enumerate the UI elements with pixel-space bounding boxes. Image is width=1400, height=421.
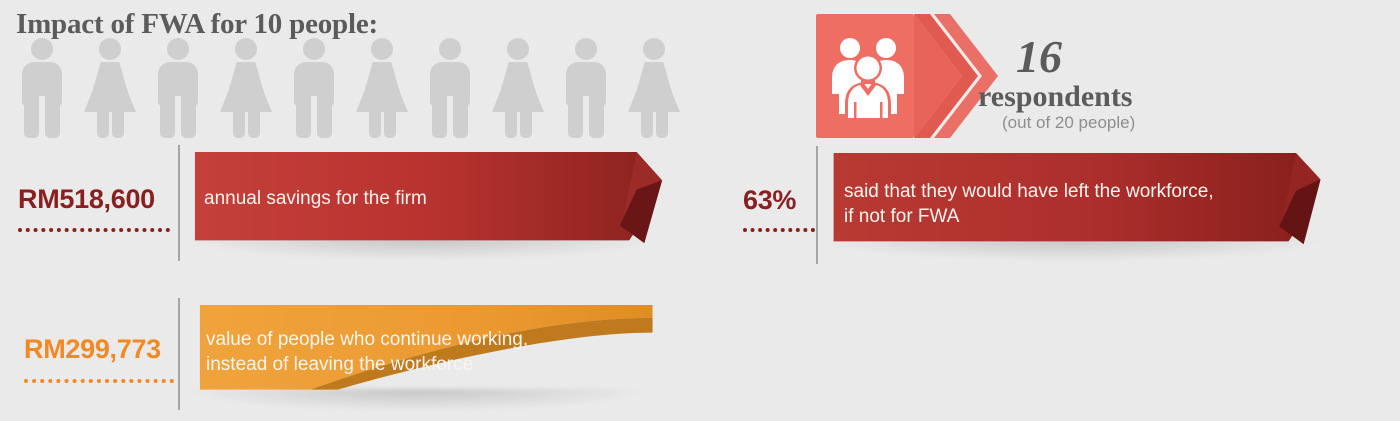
person-head xyxy=(643,38,665,60)
respondents-subtext: (out of 20 people) xyxy=(1002,113,1135,133)
person-skirt xyxy=(628,86,680,112)
person-female-icon xyxy=(490,38,546,138)
infographic-canvas: Impact of FWA for 10 people: RM518,600 xyxy=(0,0,1400,421)
person-leg-left xyxy=(505,110,517,138)
person-female-icon xyxy=(354,38,410,138)
stat-label-underline-would-have-left xyxy=(743,224,815,232)
person-female-icon xyxy=(626,38,682,138)
person-male-icon xyxy=(558,38,614,138)
person-leg-right xyxy=(384,110,396,138)
person-skirt xyxy=(492,86,544,112)
stat-block-would-have-left: 63% said that they would have left the w… xyxy=(720,158,1380,273)
person-head xyxy=(371,38,393,60)
person-leg-left xyxy=(160,98,175,138)
person-male-icon xyxy=(286,38,342,138)
stat-label-would-have-left: 63% xyxy=(743,185,796,216)
stat-label-underline-continued-working-value xyxy=(24,375,174,383)
person-head xyxy=(235,38,257,60)
person-leg-left xyxy=(233,110,245,138)
person-skirt xyxy=(220,86,272,112)
person-leg-gap xyxy=(39,96,45,140)
person-head xyxy=(99,38,121,60)
person-leg-right xyxy=(112,110,124,138)
person-leg-left xyxy=(641,110,653,138)
person-leg-left xyxy=(97,110,109,138)
respondents-word: respondents xyxy=(978,80,1132,114)
person-leg-gap xyxy=(583,96,589,140)
person-leg-right xyxy=(520,110,532,138)
stat-label-underline-annual-savings xyxy=(18,224,170,232)
person-male-icon xyxy=(422,38,478,138)
person-female-icon xyxy=(82,38,138,138)
person-leg-left xyxy=(296,98,311,138)
person-leg-right xyxy=(45,98,60,138)
person-head xyxy=(507,38,529,60)
person-leg-gap xyxy=(175,96,181,140)
respondents-badge: 16 respondents (out of 20 people) xyxy=(816,14,1216,138)
person-leg-gap xyxy=(447,96,453,140)
ribbon-would-have-left: said that they would have left the workf… xyxy=(816,153,1336,247)
stat-block-annual-savings: RM518,600 annual savings for the firm xyxy=(0,152,700,267)
person-leg-right xyxy=(589,98,604,138)
person-leg-right xyxy=(181,98,196,138)
person-leg-left xyxy=(568,98,583,138)
people-pictogram-row xyxy=(14,36,674,138)
stat-label-continued-working-value: RM299,773 xyxy=(24,334,161,365)
ribbon-text-annual-savings: annual savings for the firm xyxy=(204,186,634,211)
person-leg-left xyxy=(24,98,39,138)
group-of-people-icon xyxy=(828,34,910,118)
person-female-icon xyxy=(218,38,274,138)
person-leg-gap xyxy=(311,96,317,140)
person-leg-left xyxy=(432,98,447,138)
person-head xyxy=(439,38,461,60)
person-leg-right xyxy=(248,110,260,138)
ribbon-annual-savings: annual savings for the firm xyxy=(178,152,676,246)
person-leg-right xyxy=(317,98,332,138)
person-head xyxy=(167,38,189,60)
stat-block-continued-working-value: RM299,773 value of people who continue w… xyxy=(0,305,700,415)
person-male-icon xyxy=(14,38,70,138)
person-head xyxy=(575,38,597,60)
person-leg-right xyxy=(453,98,468,138)
respondents-number: 16 xyxy=(1016,30,1062,83)
person-head xyxy=(303,38,325,60)
stat-label-annual-savings: RM518,600 xyxy=(18,184,155,215)
person-skirt xyxy=(84,86,136,112)
person-head xyxy=(31,38,53,60)
person-skirt xyxy=(356,86,408,112)
ribbon-text-would-have-left: said that they would have left the workf… xyxy=(844,179,1294,229)
person-leg-right xyxy=(656,110,668,138)
ribbon-continued-working-value: value of people who continue working, in… xyxy=(178,305,676,397)
person-male-icon xyxy=(150,38,206,138)
person-leg-left xyxy=(369,110,381,138)
ribbon-text-continued-working-value: value of people who continue working, in… xyxy=(206,327,626,377)
